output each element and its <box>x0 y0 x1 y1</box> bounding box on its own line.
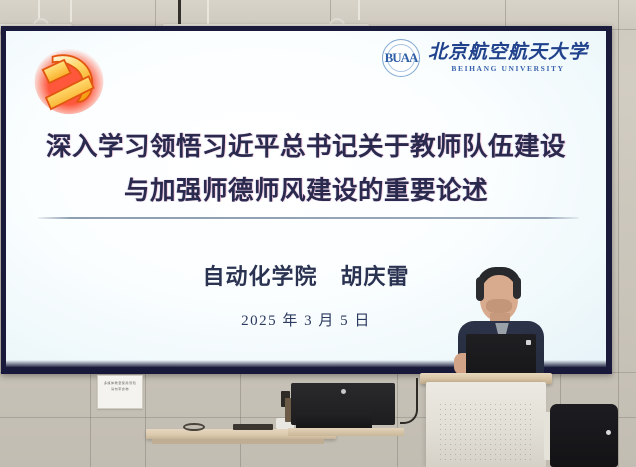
slide-title-line-2: 与加强师德师风建设的重要论述 <box>6 169 606 213</box>
slide-divider <box>38 217 579 219</box>
university-logo: BUAA 北京航空航天大学 BEIHANG UNIVERSITY <box>382 39 588 77</box>
desk-remote <box>233 424 273 430</box>
hanging-cable <box>70 0 72 22</box>
office-chair <box>550 404 618 467</box>
lecture-podium <box>426 382 546 467</box>
wall-seam <box>240 372 241 467</box>
control-desk-surface <box>288 428 404 436</box>
wall-seam <box>90 372 91 467</box>
wall-seam <box>505 0 506 29</box>
slide-title: 深入学习领悟习近平总书记关于教师队伍建设 与加强师德师风建设的重要论述 <box>6 125 606 213</box>
speaker-hair-side-right <box>513 277 521 299</box>
wall-seam <box>618 0 619 467</box>
speaker-face-shadow <box>486 299 512 313</box>
speaker-hair-side-left <box>476 277 484 301</box>
hanging-cable <box>38 0 40 20</box>
university-seal-icon: BUAA <box>382 39 420 77</box>
hanging-cable-loop <box>400 378 418 424</box>
university-name-block: 北京航空航天大学 BEIHANG UNIVERSITY <box>428 43 588 74</box>
seal-monogram: BUAA <box>383 40 419 76</box>
hanging-cable <box>358 0 360 20</box>
chair-control-knob <box>606 430 611 435</box>
hanging-cable <box>207 0 209 26</box>
university-name-en: BEIHANG UNIVERSITY <box>451 64 564 73</box>
wall-notice-line-1: 多媒体教室使用须知 <box>101 381 139 387</box>
wall-seam <box>145 372 146 467</box>
side-desk-edge <box>152 439 324 444</box>
wall-notice-sign: 多媒体教室使用须知 请勿带食物 <box>97 375 143 409</box>
slide-title-line-1: 深入学习领悟习近平总书记关于教师队伍建设 <box>6 125 606 169</box>
cpc-party-emblem <box>26 37 112 119</box>
presenter-laptop <box>466 334 536 378</box>
wall-seam <box>155 0 156 29</box>
wall-seam <box>397 372 398 467</box>
university-name-cn: 北京航空航天大学 <box>428 43 588 63</box>
podium-speaker-grille <box>438 402 532 463</box>
desk-cable-coil <box>183 423 205 431</box>
wall-notice-line-2: 请勿带食物 <box>101 387 139 393</box>
lecture-hall-photo: BUAA 北京航空航天大学 BEIHANG UNIVERSITY 深入学习领悟习… <box>0 0 636 467</box>
